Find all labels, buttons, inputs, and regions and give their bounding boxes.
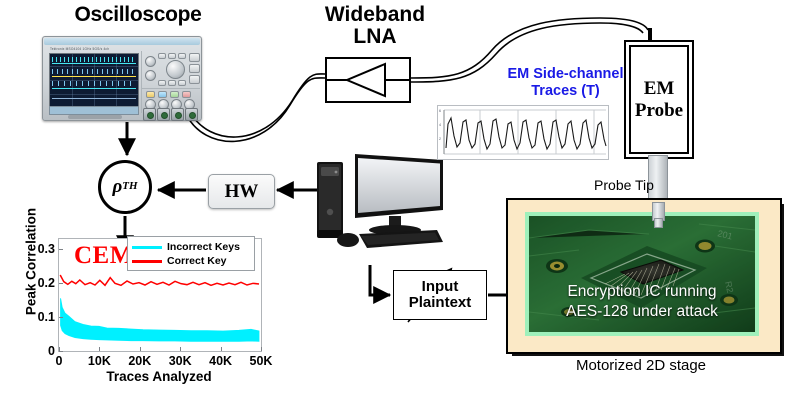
hw-block: HW: [208, 174, 275, 209]
chart-y-tickmark: [59, 351, 63, 352]
oscilloscope-button[interactable]: [189, 53, 200, 62]
svg-text:201: 201: [717, 228, 734, 241]
em-probe-line2: Probe: [635, 100, 683, 122]
lna-title-line2: LNA: [300, 26, 450, 48]
lna-box: [325, 57, 411, 103]
em-waveform-path: [446, 118, 606, 149]
oscilloscope-knob[interactable]: [145, 70, 156, 81]
chart-y-tickmark: [59, 249, 63, 250]
oscilloscope-button[interactable]: [178, 53, 186, 59]
hw-label: HW: [209, 175, 274, 208]
oscilloscope-button[interactable]: [158, 80, 166, 86]
oscilloscope-main-knob[interactable]: [166, 60, 185, 79]
oscilloscope-bnc-input[interactable]: [143, 108, 156, 121]
chart-legend: Incorrect Keys Correct Key: [127, 236, 255, 271]
oscilloscope-button[interactable]: [178, 80, 186, 86]
svg-text:2: 2: [439, 137, 441, 141]
probe-tip-label: Probe Tip: [578, 178, 670, 193]
oscilloscope-bnc-input[interactable]: [157, 108, 170, 121]
em-probe-line1: EM: [635, 78, 683, 100]
chart-y-tick: 0.1: [38, 310, 55, 324]
oscilloscope-knob[interactable]: [145, 56, 156, 67]
oscilloscope-button[interactable]: [189, 64, 200, 73]
oscilloscope-bnc-input[interactable]: [185, 108, 198, 121]
input-plaintext-box: Input Plaintext: [393, 270, 487, 320]
svg-text:4: 4: [439, 123, 441, 127]
oscilloscope: Tektronix MSO4104 1GHz 5GS/s 4ch: [42, 36, 202, 121]
chart-y-tickmark: [59, 283, 63, 284]
chart-x-tick: 10K: [88, 354, 111, 368]
oscilloscope-top-bar: [44, 38, 200, 45]
chart-y-tick: 0: [48, 344, 55, 358]
oscilloscope-button[interactable]: [146, 91, 155, 98]
legend-swatch-incorrect-keys: [132, 246, 162, 249]
chart-x-tick: 20K: [128, 354, 151, 368]
legend-item-incorrect-keys: Incorrect Keys: [132, 240, 240, 254]
rho-symbol: ρ: [112, 177, 122, 197]
cable-scope-lna-a: [186, 78, 325, 142]
chart-x-axis-label: Traces Analyzed: [58, 369, 260, 384]
chart-y-tick: 0.2: [38, 276, 55, 290]
oscilloscope-button[interactable]: [168, 80, 176, 86]
chart-x-tickmark: [140, 347, 141, 351]
series-correct-key-line: [60, 275, 259, 285]
cable-scope-lna-b: [190, 74, 325, 137]
rho-subscript: TH: [122, 181, 137, 193]
legend-item-correct-key: Correct Key: [132, 254, 227, 268]
chart-x-tickmark: [221, 347, 222, 351]
oscilloscope-screen-footer: [49, 106, 139, 115]
oscilloscope-screen: [49, 53, 139, 107]
chart-x-tickmark: [59, 347, 60, 351]
em-trace-plot: 642: [437, 105, 609, 160]
lna-title-line1: Wideband: [300, 4, 450, 26]
rho-threshold-node: ρTH: [98, 160, 152, 214]
chart-y-axis-label: Peak Correlation: [24, 202, 39, 322]
chart-x-tickmark: [261, 347, 262, 351]
oscilloscope-title: Oscilloscope: [48, 4, 228, 26]
rho-threshold-label: ρTH: [101, 163, 149, 211]
oscilloscope-button[interactable]: [158, 91, 167, 98]
stage-caption: Motorized 2D stage: [556, 358, 726, 374]
em-probe-label: EM Probe: [629, 45, 689, 154]
plaintext-line2: Plaintext: [409, 295, 472, 311]
chart-y-tickmark: [59, 317, 63, 318]
lna-title: Wideband LNA: [300, 4, 450, 48]
input-plaintext-label: Input Plaintext: [394, 271, 486, 319]
oscilloscope-button[interactable]: [168, 53, 176, 59]
arrow-pc-to-plaintext: [370, 265, 390, 295]
chart-y-tick: 0.3: [38, 242, 55, 256]
oscilloscope-brand-text: Tektronix MSO4104 1GHz 5GS/s 4ch: [50, 47, 109, 51]
oscilloscope-bnc-input[interactable]: [171, 108, 184, 121]
oscilloscope-button[interactable]: [170, 91, 179, 98]
em-probe-box: EM Probe: [624, 40, 694, 159]
oscilloscope-button[interactable]: [158, 53, 166, 59]
chart-x-tick: 0: [56, 354, 63, 368]
legend-label-incorrect-keys: Incorrect Keys: [167, 241, 240, 253]
legend-swatch-correct-key: [132, 260, 162, 263]
cema-chart: Peak Correlation Traces Analyzed 00.10.2…: [14, 228, 276, 390]
probe-tip-lower: [654, 218, 663, 228]
pcb-caption-line1: Encryption IC running: [529, 282, 755, 301]
series-incorrect-keys-band: [61, 298, 259, 341]
plaintext-line1: Input: [409, 279, 472, 295]
chart-x-tick: 50K: [250, 354, 273, 368]
pcb-photo: 201 R2 Encryption IC running AES-128 und…: [529, 216, 755, 332]
oscilloscope-button[interactable]: [189, 75, 200, 84]
oscilloscope-button[interactable]: [182, 91, 191, 98]
chart-x-tickmark: [180, 347, 181, 351]
pcb-caption-line2: AES-128 under attack: [529, 302, 755, 321]
chart-x-tickmark: [99, 347, 100, 351]
chart-x-tick: 40K: [209, 354, 232, 368]
chart-x-tick: 30K: [169, 354, 192, 368]
legend-label-correct-key: Correct Key: [167, 255, 227, 267]
desktop-computer: [315, 150, 450, 265]
block-diagram-figure: Oscilloscope Tektronix MSO4104 1GHz 5GS/…: [0, 0, 800, 400]
svg-text:6: 6: [439, 109, 441, 113]
amplifier-triangle-icon: [347, 64, 385, 96]
